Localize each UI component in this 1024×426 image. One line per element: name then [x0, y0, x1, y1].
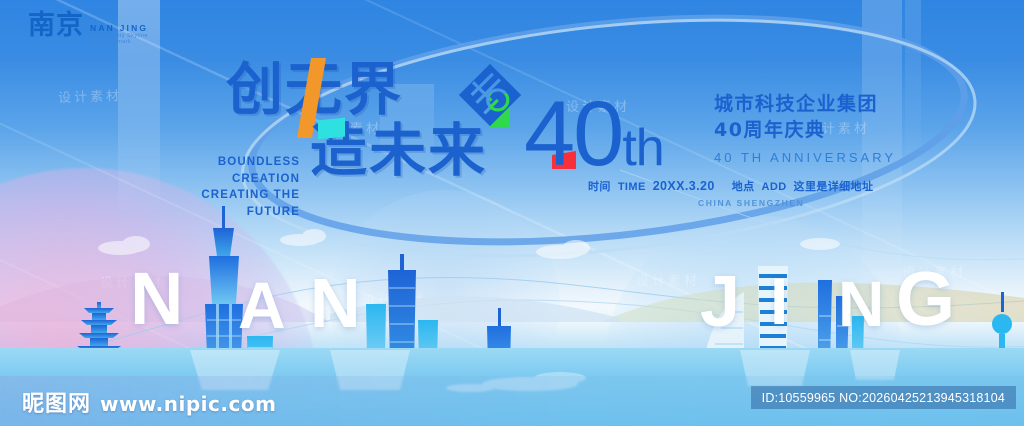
anniversary-digits: 40 — [524, 83, 622, 185]
subtitle-line-1: BOUNDLESS — [156, 154, 300, 171]
logo-en-sub2: City Landmark — [90, 39, 148, 45]
vertical-band-4 — [905, 0, 921, 170]
poster-canvas: 设计素材 设计素材 设计素材 设计素材 设计素材 设计素材 设计素材 设计素材 … — [0, 0, 1024, 426]
company-info-block: 城市科技企业集团 40周年庆典 40 TH ANNIVERSARY — [714, 92, 896, 165]
anniversary-number: 40th — [524, 88, 664, 180]
address-label-en: ADD — [762, 181, 787, 193]
logo-chinese-text: 南京 — [28, 12, 84, 39]
subtitle-line-2: CREATION — [156, 171, 300, 188]
watermark-bar: 昵图网 www.nipic.com ID:10559965 NO:2026042… — [0, 376, 1024, 426]
logo-english-block: NAN JING Nanjing City Skyline City Landm… — [90, 23, 148, 46]
skyline-letter-right-1: I — [770, 268, 788, 334]
address-label-cn: 地点 — [732, 178, 755, 194]
skyline-letter-right-2: N — [838, 272, 884, 336]
logo-en-main: NAN JING — [90, 23, 148, 33]
skyline-letter-left-1: A — [238, 272, 286, 338]
diamond-40-icon — [455, 60, 525, 130]
anniversary-suffix: th — [622, 119, 663, 177]
bg-watermark-text: 设计素材 — [58, 85, 123, 106]
company-name-cn: 城市科技企业集团 — [714, 92, 896, 118]
event-detail-line: 时间 TIME 20XX.3.20 地点 ADD 这里是详细地址 — [588, 178, 873, 194]
skyline-letter-left-2: N — [310, 268, 361, 338]
skyline-letter-right-0: J — [700, 266, 740, 338]
skyline-letter-left-0: N — [130, 262, 183, 336]
skyline-letter-right-3: G — [896, 262, 955, 338]
time-label-en: TIME — [618, 181, 646, 193]
nipic-watermark: 昵图网 www.nipic.com — [22, 386, 276, 418]
watermark-brand-url: www.nipic.com — [100, 392, 276, 416]
time-label-cn: 时间 — [588, 178, 611, 194]
time-value: 20XX.3.20 — [653, 179, 715, 193]
watermark-brand-cn: 昵图网 — [22, 386, 91, 418]
address-value: 这里是详细地址 — [794, 178, 874, 194]
anniversary-title-en: 40 TH ANNIVERSARY — [714, 150, 896, 165]
nanjing-logo: 南京 NAN JING Nanjing City Skyline City La… — [28, 12, 148, 46]
anniversary-title-cn: 40周年庆典 — [714, 118, 896, 144]
image-id-badge: ID:10559965 NO:20260425213945318104 — [751, 386, 1016, 409]
accent-swatch-cyan — [318, 118, 345, 140]
